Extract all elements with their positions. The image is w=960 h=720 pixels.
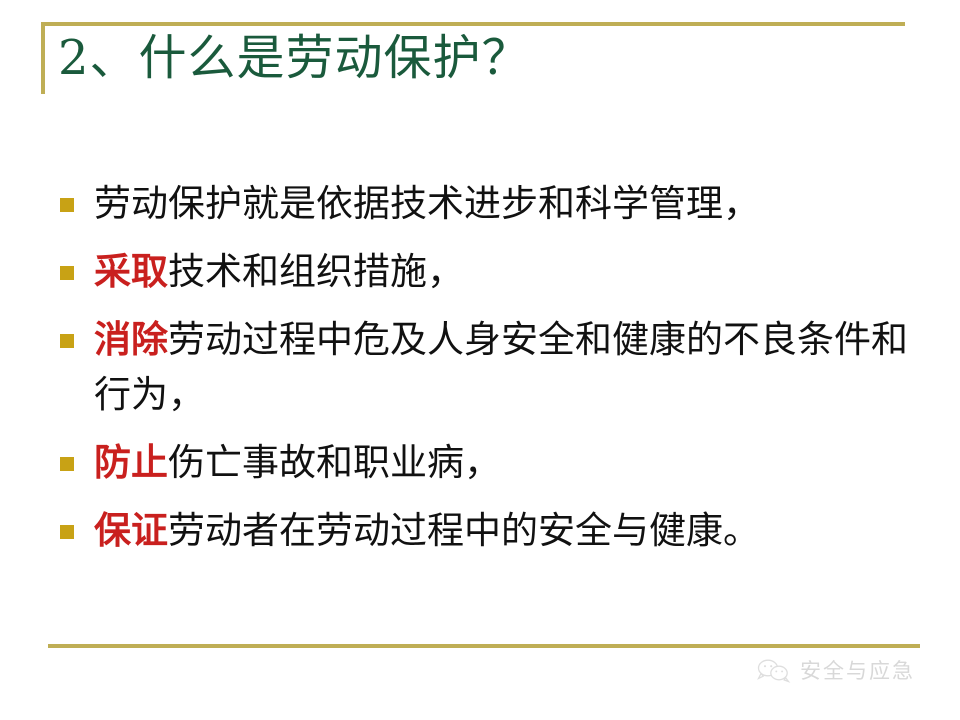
bullet-emphasis-5: 保证	[94, 508, 168, 552]
slide-title: 2、什么是劳动保护？	[58, 24, 531, 92]
watermark-label: 安全与应急	[800, 658, 915, 684]
bullet-square-icon	[60, 198, 74, 212]
bullet-emphasis-3: 消除	[94, 317, 168, 361]
bullet-item-5: 保证劳动者在劳动过程中的安全与健康。	[52, 503, 932, 558]
bullet-text-4: 伤亡事故和职业病，	[168, 441, 501, 484]
bullet-text-5: 劳动者在劳动过程中的安全与健康。	[168, 509, 760, 552]
bullet-text-3: 劳动过程中危及人身安全和健康的不良条件和行为，	[94, 318, 908, 416]
bullet-item-1: 劳动保护就是依据技术进步和科学管理，	[52, 176, 932, 231]
bullet-square-icon	[60, 457, 74, 471]
bullet-square-icon	[60, 525, 74, 539]
bullet-emphasis-2: 采取	[94, 249, 168, 293]
bullet-text-2: 技术和组织措施，	[168, 250, 464, 293]
bullet-text-1: 劳动保护就是依据技术进步和科学管理，	[94, 182, 760, 225]
footer-watermark: 安全与应急	[757, 658, 915, 684]
bullet-item-3: 消除劳动过程中危及人身安全和健康的不良条件和行为，	[52, 312, 932, 422]
wechat-icon	[757, 658, 791, 684]
bullet-list: 劳动保护就是依据技术进步和科学管理， 采取技术和组织措施， 消除劳动过程中危及人…	[52, 176, 932, 558]
slide-canvas: 2、什么是劳动保护？ 劳动保护就是依据技术进步和科学管理， 采取技术和组织措施，…	[0, 0, 960, 720]
bullet-square-icon	[60, 266, 74, 280]
footer-rule	[48, 644, 920, 648]
bullet-item-4: 防止伤亡事故和职业病，	[52, 435, 932, 490]
title-rule-left	[41, 22, 45, 94]
bullet-emphasis-4: 防止	[94, 440, 168, 484]
bullet-item-2: 采取技术和组织措施，	[52, 244, 932, 299]
bullet-square-icon	[60, 334, 74, 348]
